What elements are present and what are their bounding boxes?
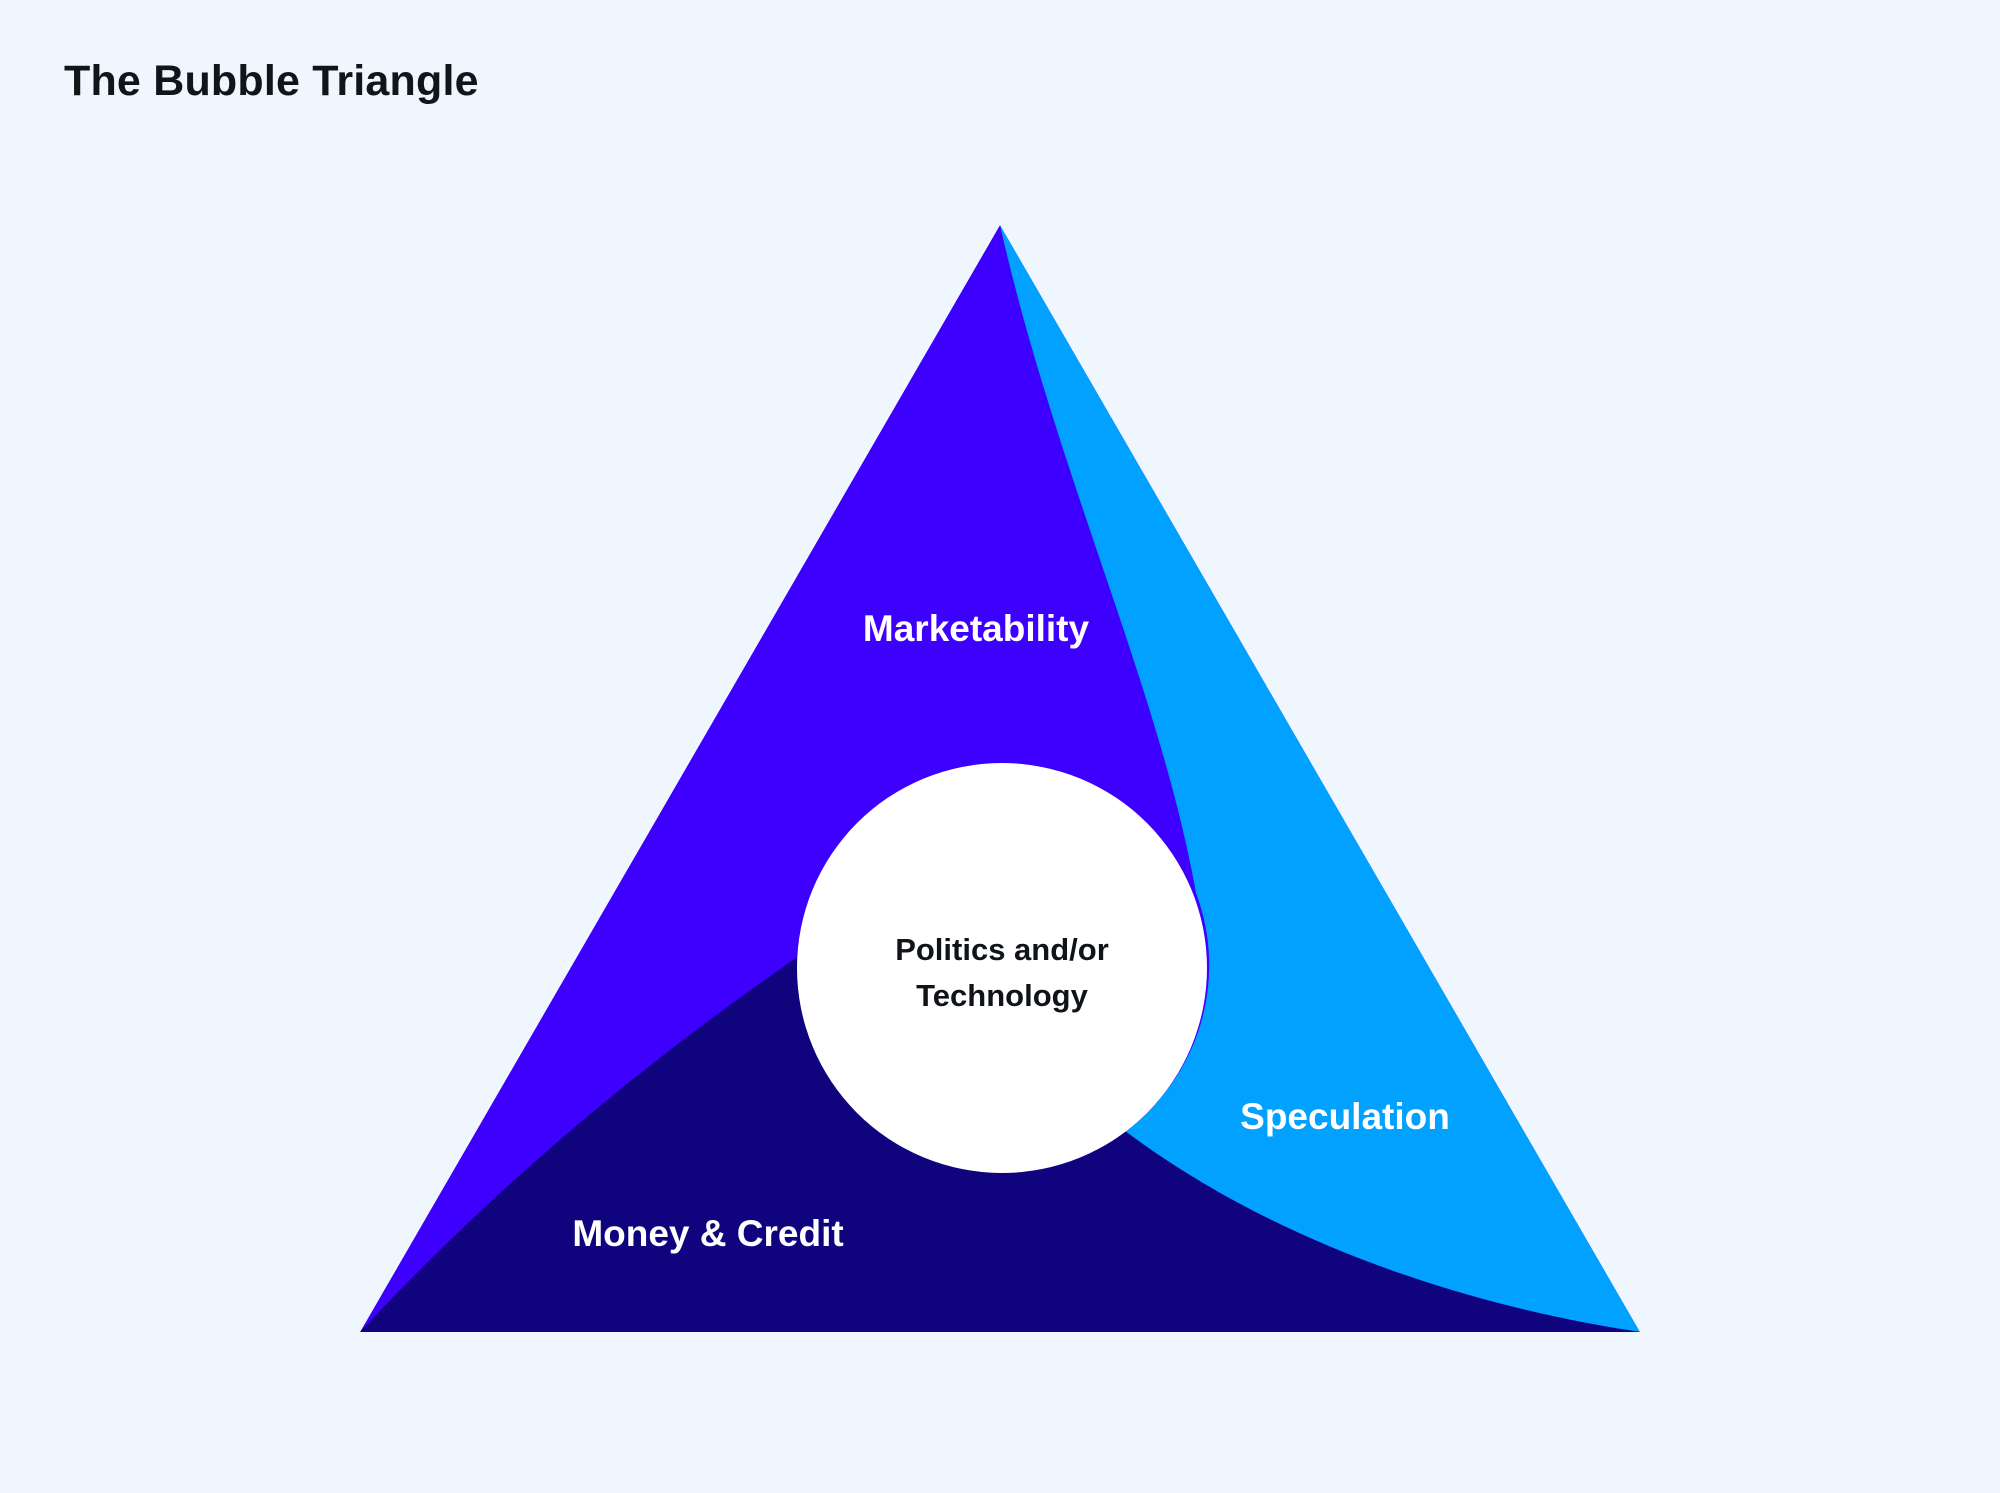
label-speculation: Speculation (1240, 1096, 1450, 1137)
label-marketability: Marketability (863, 608, 1090, 649)
label-money-and-credit: Money & Credit (572, 1213, 843, 1254)
bubble-triangle-diagram: Marketability Speculation Money & Credit… (0, 0, 2000, 1493)
center-label-line2: Technology (916, 978, 1088, 1013)
center-circle (797, 763, 1207, 1173)
diagram-page: The Bubble Triangle (0, 0, 2000, 1493)
center-label-line1: Politics and/or (895, 932, 1109, 967)
bubble-triangle-svg: Marketability Speculation Money & Credit… (0, 0, 2000, 1493)
